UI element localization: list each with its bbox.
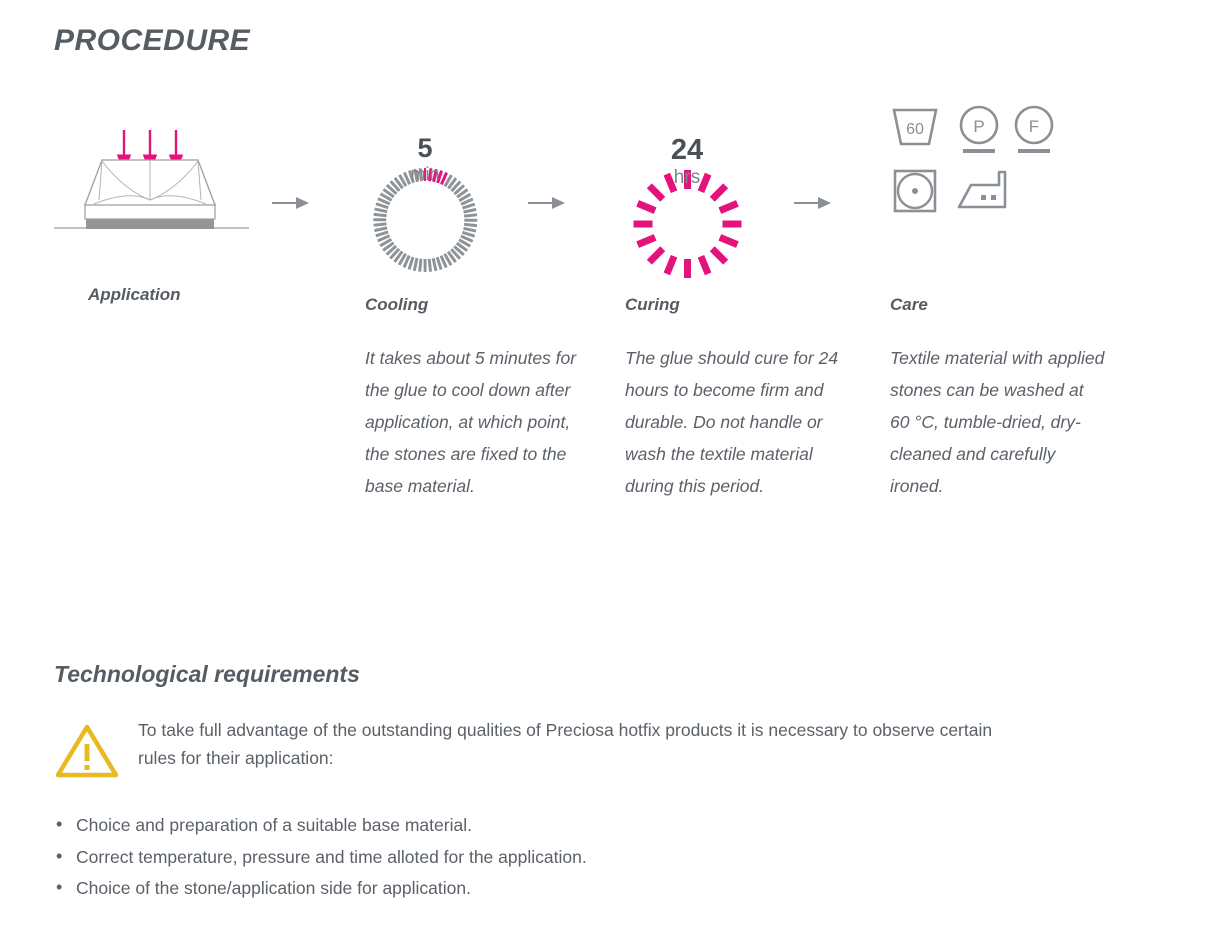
starburst-timer-icon: 24 hrs bbox=[625, 100, 857, 265]
wash-tub-icon: 60 bbox=[890, 104, 940, 153]
starburst-ray bbox=[646, 246, 664, 264]
starburst-ray bbox=[718, 234, 738, 248]
dial-tick bbox=[464, 223, 477, 227]
cooling-dial-value: 5 bbox=[417, 135, 432, 162]
step-label-application: Application bbox=[88, 285, 181, 305]
step-label-cooling: Cooling bbox=[365, 295, 428, 315]
right-arrow-icon bbox=[272, 195, 314, 211]
arrow-shaft bbox=[272, 202, 298, 204]
iron-icon bbox=[955, 167, 1009, 218]
curing-burst-unit: hrs bbox=[674, 167, 700, 189]
dial-tick bbox=[428, 259, 432, 272]
step-body-cooling: It takes about 5 minutes for the glue to… bbox=[365, 342, 580, 502]
procedure-step-curing: 24 hrs Curing The glue should cure for 2… bbox=[625, 100, 857, 265]
starburst-ray bbox=[709, 246, 727, 264]
curing-burst-value: 24 bbox=[671, 136, 703, 165]
dial-tick bbox=[373, 223, 386, 227]
step-label-care: Care bbox=[890, 295, 928, 315]
procedure-step-cooling: 5 min Cooling It takes about 5 minutes f… bbox=[365, 100, 580, 265]
list-item: Choice and preparation of a suitable bas… bbox=[54, 810, 1054, 842]
section-title-technological-requirements: Technological requirements bbox=[54, 661, 360, 688]
starburst-ray bbox=[636, 234, 656, 248]
cooling-dial-unit: min bbox=[410, 164, 439, 185]
dryclean-p-label: P bbox=[973, 117, 984, 136]
arrow-head bbox=[296, 197, 309, 209]
requirements-note: To take full advantage of the outstandin… bbox=[54, 716, 1004, 772]
arrow-shaft bbox=[794, 202, 820, 204]
tumble-dry-icon bbox=[891, 167, 939, 220]
step-label-curing: Curing bbox=[625, 295, 680, 315]
wash-temperature-label: 60 bbox=[906, 121, 924, 138]
requirements-bullet-list: Choice and preparation of a suitable bas… bbox=[54, 810, 1054, 905]
requirements-intro-text: To take full advantage of the outstandin… bbox=[138, 716, 1004, 772]
step-body-curing: The glue should cure for 24 hours to bec… bbox=[625, 342, 857, 502]
step-body-care: Textile material with applied stones can… bbox=[890, 342, 1105, 502]
dial-tick bbox=[418, 259, 422, 272]
right-arrow-icon bbox=[794, 195, 836, 211]
procedure-steps: Application 5 min Cooling It takes about… bbox=[0, 100, 1213, 570]
page-title: PROCEDURE bbox=[54, 24, 250, 58]
starburst-ray bbox=[684, 259, 691, 278]
dial-tick bbox=[424, 259, 427, 272]
list-item: Choice of the stone/application side for… bbox=[54, 873, 1054, 905]
list-item: Correct temperature, pressure and time a… bbox=[54, 842, 1054, 874]
arrow-shaft bbox=[528, 202, 554, 204]
stone-pressed-by-arrows-icon bbox=[54, 100, 304, 265]
dryclean-circle-f-icon: F bbox=[1012, 104, 1056, 161]
curing-burst-center: 24 hrs bbox=[625, 100, 749, 224]
starburst-ray bbox=[663, 255, 677, 275]
arrow-head bbox=[818, 197, 831, 209]
starburst-ray bbox=[697, 255, 711, 275]
warning-triangle-icon bbox=[54, 722, 120, 785]
right-arrow-icon bbox=[528, 195, 570, 211]
care-symbols-icon: 60 P F bbox=[890, 104, 1090, 254]
dial-timer-icon: 5 min bbox=[365, 100, 580, 265]
dryclean-circle-p-icon: P bbox=[957, 104, 1001, 161]
dryclean-f-label: F bbox=[1029, 117, 1039, 136]
cooling-dial-center: 5 min bbox=[365, 100, 485, 220]
arrow-head bbox=[552, 197, 565, 209]
